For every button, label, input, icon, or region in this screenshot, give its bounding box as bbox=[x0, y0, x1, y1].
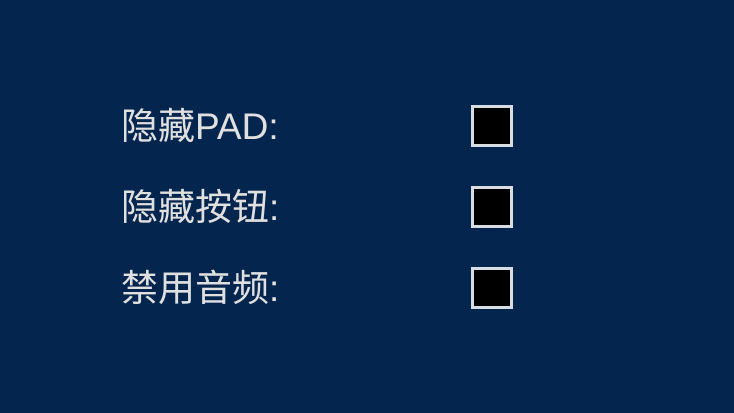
checkbox-slot-hide-button bbox=[471, 186, 513, 228]
checkbox-slot-hide-pad bbox=[471, 105, 513, 147]
checkbox-disable-audio[interactable] bbox=[471, 267, 513, 309]
checkbox-hide-pad[interactable] bbox=[471, 105, 513, 147]
settings-panel: 隐藏PAD: 隐藏按钮: 禁用音频: bbox=[0, 0, 734, 413]
setting-label-disable-audio: 禁用音频: bbox=[121, 270, 279, 307]
checkbox-hide-button[interactable] bbox=[471, 186, 513, 228]
setting-label-hide-button: 隐藏按钮: bbox=[121, 189, 279, 226]
setting-row-disable-audio: 禁用音频: bbox=[121, 258, 521, 318]
setting-row-hide-pad: 隐藏PAD: bbox=[121, 96, 521, 156]
settings-option-list: 隐藏PAD: 隐藏按钮: 禁用音频: bbox=[121, 96, 521, 318]
setting-label-hide-pad: 隐藏PAD: bbox=[121, 108, 279, 145]
setting-row-hide-button: 隐藏按钮: bbox=[121, 177, 521, 237]
checkbox-slot-disable-audio bbox=[471, 267, 513, 309]
